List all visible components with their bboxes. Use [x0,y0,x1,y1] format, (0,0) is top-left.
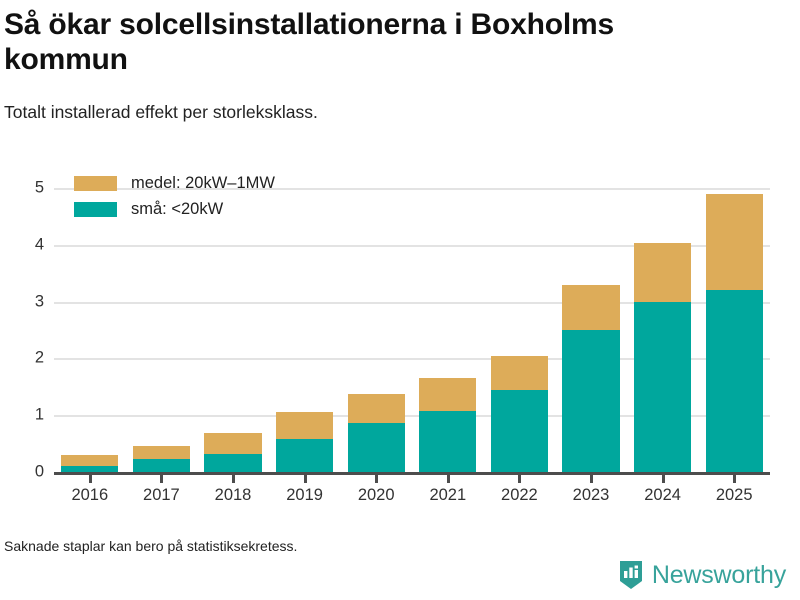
x-axis-tick-label-2017: 2017 [143,486,180,505]
legend-label-small: små: <20kW [131,200,223,219]
x-axis-tick-label-2016: 2016 [71,486,108,505]
x-axis-tick-label-2023: 2023 [573,486,610,505]
bar-segment-small-2020[interactable] [348,423,405,472]
y-axis-tick-label: 2 [0,349,44,368]
bar-segment-small-2021[interactable] [419,411,476,472]
bar-segment-small-2019[interactable] [276,439,333,472]
chart-header: Så ökar solcellsinstallationerna i Boxho… [0,0,800,123]
x-axis-tick-label-2021: 2021 [429,486,466,505]
x-axis-tick [375,472,378,483]
x-axis-tick-label-2020: 2020 [358,486,395,505]
bar-group-2023[interactable] [562,160,619,472]
chart-subtitle: Totalt installerad effekt per storlekskl… [4,102,782,123]
brand-logo[interactable]: Newsworthy [618,560,786,590]
legend-swatch-small-icon [74,202,117,217]
bar-group-2019[interactable] [276,160,333,472]
bar-group-2022[interactable] [491,160,548,472]
legend-swatch-medium-icon [74,176,117,191]
y-axis-tick-label: 4 [0,235,44,254]
y-axis-tick-label: 0 [0,463,44,482]
legend-label-medium: medel: 20kW–1MW [131,174,275,193]
bar-segment-medium-2017[interactable] [133,446,190,458]
x-axis-tick [89,472,92,483]
x-axis-tick-label-2022: 2022 [501,486,538,505]
x-axis-tick [733,472,736,483]
x-axis-tick-label-2019: 2019 [286,486,323,505]
bar-segment-small-2023[interactable] [562,330,619,472]
x-axis-tick-label-2018: 2018 [215,486,252,505]
chart-page: Så ökar solcellsinstallationerna i Boxho… [0,0,800,600]
bar-chart-logo-icon [618,560,644,590]
bar-segment-medium-2018[interactable] [204,433,261,455]
bar-segment-small-2017[interactable] [133,459,190,472]
legend-item-medium[interactable]: medel: 20kW–1MW [74,172,275,195]
legend-item-small[interactable]: små: <20kW [74,198,275,221]
bar-segment-small-2018[interactable] [204,454,261,472]
x-axis-tick [590,472,593,483]
x-axis-tick-label-2024: 2024 [644,486,681,505]
bar-segment-medium-2019[interactable] [276,412,333,439]
bar-segment-medium-2023[interactable] [562,285,619,330]
bar-segment-medium-2024[interactable] [634,243,691,302]
x-axis-tick [160,472,163,483]
bar-segment-medium-2021[interactable] [419,378,476,411]
bar-group-2025[interactable] [706,160,763,472]
chart-footnote: Saknade staplar kan bero på statistiksek… [4,538,297,554]
x-axis-tick [662,472,665,483]
x-axis-tick [518,472,521,483]
bar-segment-small-2022[interactable] [491,390,548,472]
y-axis-tick-label: 1 [0,406,44,425]
bar-group-2024[interactable] [634,160,691,472]
bar-segment-medium-2025[interactable] [706,194,763,291]
bar-segment-small-2025[interactable] [706,290,763,472]
x-axis-tick [447,472,450,483]
page-title: Så ökar solcellsinstallationerna i Boxho… [4,8,704,78]
bar-segment-medium-2016[interactable] [61,455,118,466]
bar-segment-medium-2020[interactable] [348,394,405,422]
brand-name: Newsworthy [652,561,786,590]
y-axis-tick-label: 3 [0,292,44,311]
x-axis-tick-label-2025: 2025 [716,486,753,505]
chart-legend: medel: 20kW–1MW små: <20kW [74,172,275,224]
bar-group-2021[interactable] [419,160,476,472]
x-axis-tick [232,472,235,483]
bar-segment-small-2024[interactable] [634,302,691,472]
x-axis-tick [304,472,307,483]
y-axis-tick-label: 5 [0,179,44,198]
bar-segment-medium-2022[interactable] [491,356,548,390]
bar-group-2020[interactable] [348,160,405,472]
